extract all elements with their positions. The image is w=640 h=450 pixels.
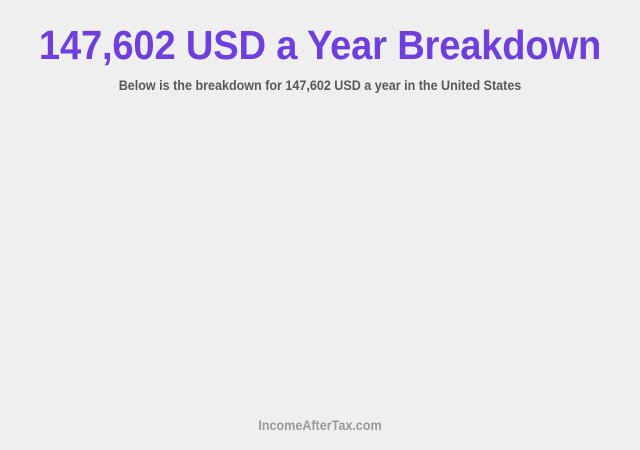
income-breakdown-page: 147,602 USD a Year Breakdown Below is th… <box>0 0 640 450</box>
page-subtitle: Below is the breakdown for 147,602 USD a… <box>22 68 617 94</box>
chart-area <box>0 118 640 410</box>
page-title: 147,602 USD a Year Breakdown <box>22 0 617 68</box>
page-header: 147,602 USD a Year Breakdown Below is th… <box>0 0 640 94</box>
chart-plot-background <box>0 118 640 410</box>
page-footer: IncomeAfterTax.com <box>0 418 640 434</box>
site-credit: IncomeAfterTax.com <box>22 418 617 434</box>
breakdown-chart <box>0 118 640 410</box>
